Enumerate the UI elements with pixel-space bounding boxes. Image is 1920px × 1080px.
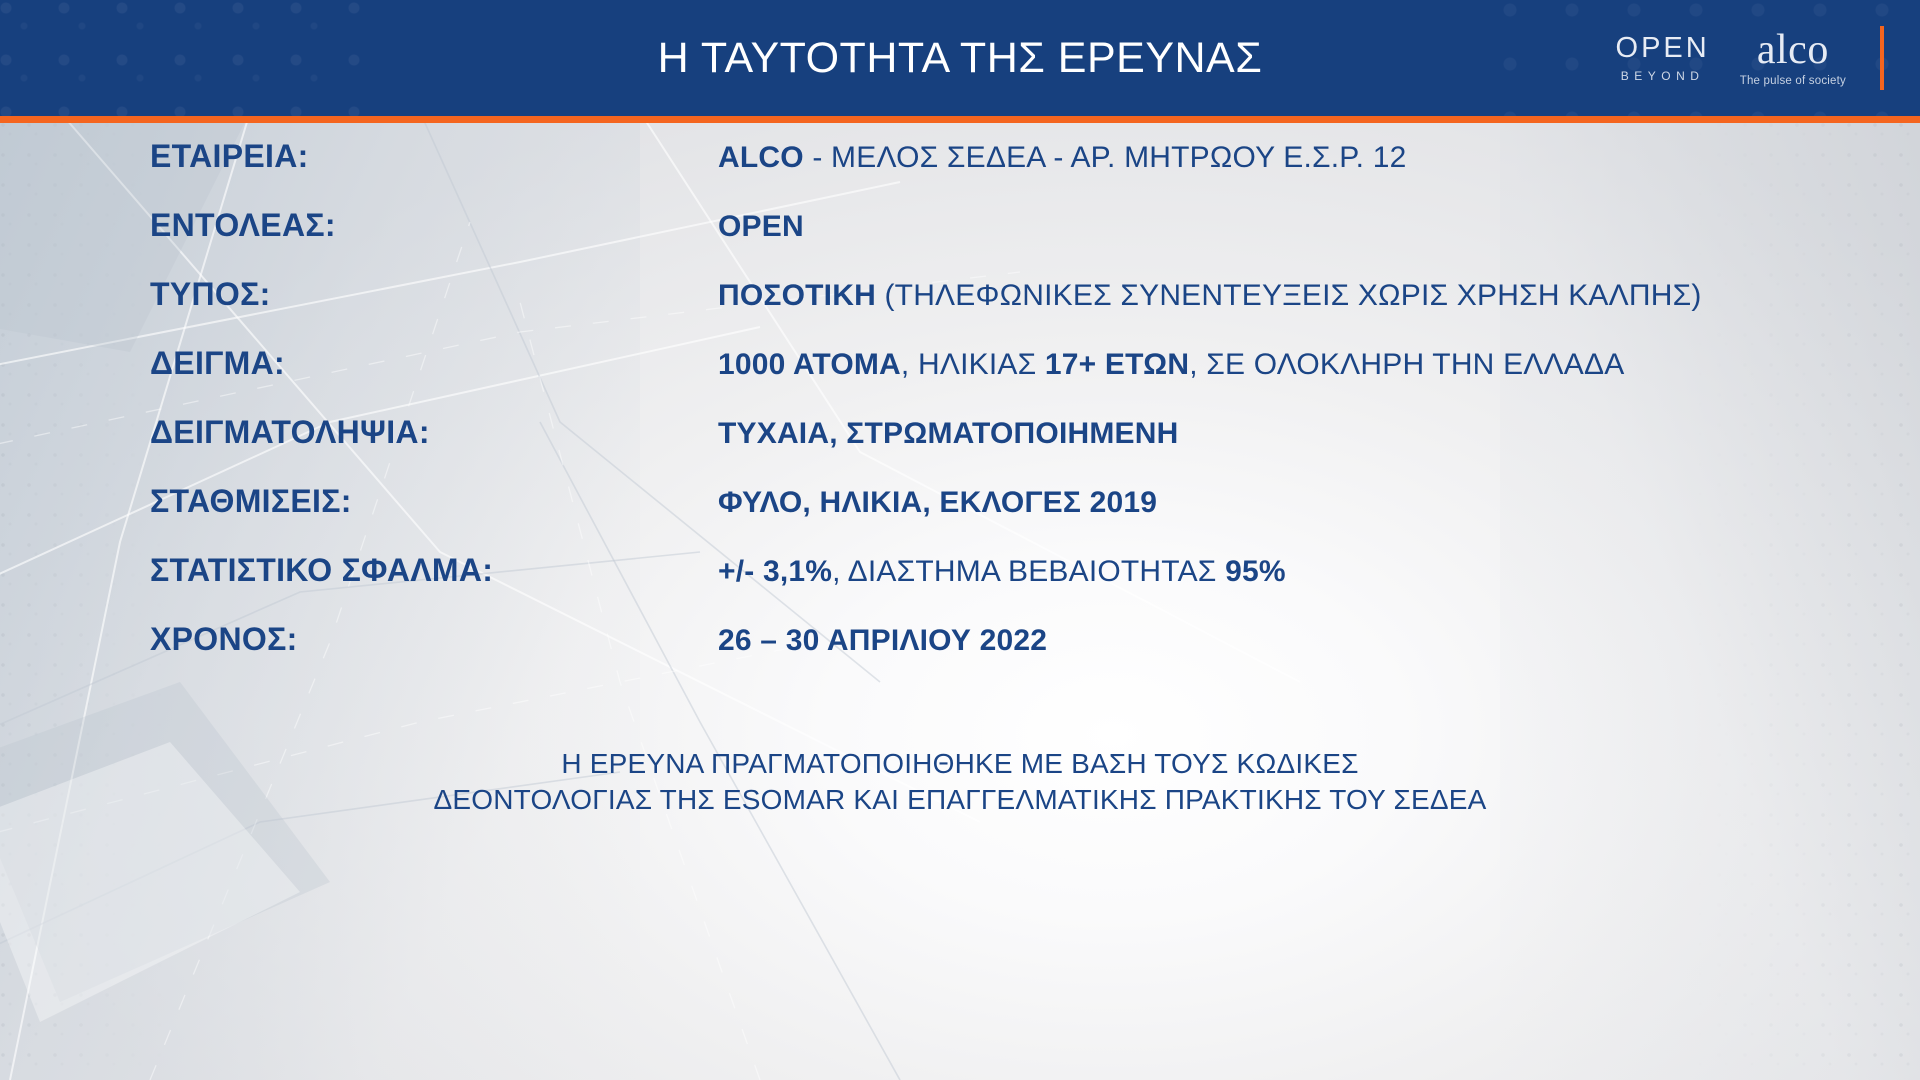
- methodology-row: ΔΕΙΓΜΑ:1000 ΑΤΟΜΑ, ΗΛΙΚΙΑΣ 17+ ΕΤΩΝ, ΣΕ …: [0, 345, 1920, 414]
- value-emphasis: 1000 ΑΤΟΜΑ: [718, 348, 901, 381]
- value-text: - ΜΕΛΟΣ ΣΕΔΕΑ - ΑΡ. ΜΗΤΡΩΟΥ Ε.Σ.Ρ. 12: [804, 141, 1407, 174]
- methodology-row-value: ΤΥΧΑΙΑ, ΣΤΡΩΜΑΤΟΠΟΙΗΜΕΝΗ: [718, 417, 1178, 451]
- open-logo-mark: OPEN: [1616, 34, 1710, 63]
- open-beyond-logo: OPEN BEYOND: [1616, 34, 1710, 82]
- slide-header: Η ΤΑΥΤΟΤΗΤΑ ΤΗΣ ΕΡΕΥΝΑΣ OPEN BEYOND alco…: [0, 0, 1920, 116]
- alco-logo: alco The pulse of society: [1740, 29, 1846, 88]
- methodology-row-value: 26 – 30 ΑΠΡΙΛΙΟΥ 2022: [718, 624, 1047, 658]
- methodology-row-value: 1000 ΑΤΟΜΑ, ΗΛΙΚΙΑΣ 17+ ΕΤΩΝ, ΣΕ ΟΛΟΚΛΗΡ…: [718, 348, 1624, 382]
- methodology-row: ΔΕΙΓΜΑΤΟΛΗΨΙΑ:ΤΥΧΑΙΑ, ΣΤΡΩΜΑΤΟΠΟΙΗΜΕΝΗ: [0, 414, 1920, 483]
- value-text: , ΣΕ ΟΛΟΚΛΗΡΗ ΤΗΝ ΕΛΛΑΔΑ: [1189, 348, 1624, 381]
- logo-group: OPEN BEYOND alco The pulse of society: [1616, 22, 1884, 94]
- methodology-row-label: ΣΤΑΤΙΣΤΙΚΟ ΣΦΑΛΜΑ:: [150, 552, 718, 589]
- methodology-row-label: ΔΕΙΓΜΑ:: [150, 345, 718, 382]
- value-text: , ΔΙΑΣΤΗΜΑ ΒΕΒΑΙΟΤΗΤΑΣ: [832, 555, 1225, 588]
- open-logo-text: OPEN: [1616, 34, 1710, 63]
- alco-logo-mark: alco: [1757, 29, 1829, 71]
- methodology-row-label: ΤΥΠΟΣ:: [150, 276, 718, 313]
- methodology-row-label: ΔΕΙΓΜΑΤΟΛΗΨΙΑ:: [150, 414, 718, 451]
- value-text: (ΤΗΛΕΦΩΝΙΚΕΣ ΣΥΝΕΝΤΕΥΞΕΙΣ ΧΩΡΙΣ ΧΡΗΣΗ ΚΑ…: [876, 279, 1702, 312]
- methodology-row-value: ALCO - ΜΕΛΟΣ ΣΕΔΕΑ - ΑΡ. ΜΗΤΡΩΟΥ Ε.Σ.Ρ. …: [718, 141, 1407, 175]
- value-emphasis: OPEN: [718, 210, 804, 243]
- value-emphasis: ΤΥΧΑΙΑ, ΣΤΡΩΜΑΤΟΠΟΙΗΜΕΝΗ: [718, 417, 1178, 450]
- value-emphasis: 26 – 30 ΑΠΡΙΛΙΟΥ 2022: [718, 624, 1047, 657]
- methodology-table: ΕΤΑΙΡΕΙΑ:ALCO - ΜΕΛΟΣ ΣΕΔΕΑ - ΑΡ. ΜΗΤΡΩΟ…: [0, 138, 1920, 690]
- methodology-row: ΕΤΑΙΡΕΙΑ:ALCO - ΜΕΛΟΣ ΣΕΔΕΑ - ΑΡ. ΜΗΤΡΩΟ…: [0, 138, 1920, 207]
- methodology-row-value: OPEN: [718, 210, 804, 244]
- value-emphasis: 95%: [1225, 555, 1286, 588]
- methodology-row: ΣΤΑΤΙΣΤΙΚΟ ΣΦΑΛΜΑ:+/- 3,1%, ΔΙΑΣΤΗΜΑ ΒΕΒ…: [0, 552, 1920, 621]
- ethics-note-line: ΔΕΟΝΤΟΛΟΓΙΑΣ ΤΗΣ ESOMAR ΚΑΙ ΕΠΑΓΓΕΛΜΑΤΙΚ…: [0, 782, 1920, 818]
- value-text: , ΗΛΙΚΙΑΣ: [901, 348, 1045, 381]
- value-emphasis: +/- 3,1%: [718, 555, 832, 588]
- value-emphasis: ΦΥΛΟ, ΗΛΙΚΙΑ, ΕΚΛΟΓΕΣ 2019: [718, 486, 1157, 519]
- value-emphasis: 17+ ΕΤΩΝ: [1045, 348, 1189, 381]
- orange-divider-bar: [1880, 26, 1884, 90]
- methodology-row-value: ΠΟΣΟΤΙΚΗ (ΤΗΛΕΦΩΝΙΚΕΣ ΣΥΝΕΝΤΕΥΞΕΙΣ ΧΩΡΙΣ…: [718, 279, 1702, 313]
- methodology-row: ΣΤΑΘΜΙΣΕΙΣ:ΦΥΛΟ, ΗΛΙΚΙΑ, ΕΚΛΟΓΕΣ 2019: [0, 483, 1920, 552]
- value-emphasis: ALCO: [718, 141, 804, 174]
- methodology-row-value: +/- 3,1%, ΔΙΑΣΤΗΜΑ ΒΕΒΑΙΟΤΗΤΑΣ 95%: [718, 555, 1286, 589]
- slide-content: ΕΤΑΙΡΕΙΑ:ALCO - ΜΕΛΟΣ ΣΕΔΕΑ - ΑΡ. ΜΗΤΡΩΟ…: [0, 116, 1920, 1080]
- methodology-row: ΕΝΤΟΛΕΑΣ:OPEN: [0, 207, 1920, 276]
- methodology-row-label: ΣΤΑΘΜΙΣΕΙΣ:: [150, 483, 718, 520]
- methodology-row: ΤΥΠΟΣ:ΠΟΣΟΤΙΚΗ (ΤΗΛΕΦΩΝΙΚΕΣ ΣΥΝΕΝΤΕΥΞΕΙΣ…: [0, 276, 1920, 345]
- ethics-note-line: Η ΕΡΕΥΝΑ ΠΡΑΓΜΑΤΟΠΟΙΗΘΗΚΕ ΜΕ ΒΑΣΗ ΤΟΥΣ Κ…: [0, 746, 1920, 782]
- methodology-row: ΧΡΟΝΟΣ:26 – 30 ΑΠΡΙΛΙΟΥ 2022: [0, 621, 1920, 690]
- open-logo-subtitle: BEYOND: [1621, 70, 1705, 82]
- methodology-row-label: ΕΤΑΙΡΕΙΑ:: [150, 138, 718, 175]
- methodology-row-label: ΧΡΟΝΟΣ:: [150, 621, 718, 658]
- methodology-row-label: ΕΝΤΟΛΕΑΣ:: [150, 207, 718, 244]
- ethics-note: Η ΕΡΕΥΝΑ ΠΡΑΓΜΑΤΟΠΟΙΗΘΗΚΕ ΜΕ ΒΑΣΗ ΤΟΥΣ Κ…: [0, 746, 1920, 818]
- methodology-row-value: ΦΥΛΟ, ΗΛΙΚΙΑ, ΕΚΛΟΓΕΣ 2019: [718, 486, 1157, 520]
- value-emphasis: ΠΟΣΟΤΙΚΗ: [718, 279, 876, 312]
- alco-logo-tagline: The pulse of society: [1740, 76, 1846, 88]
